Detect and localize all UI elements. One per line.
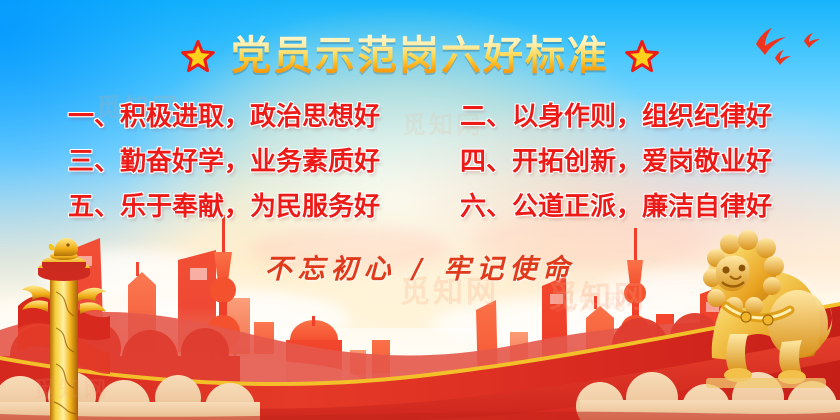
standards-row-1: 一、积极进取，政治思想好 二、以身作则，组织纪律好 <box>0 92 840 137</box>
standard-item-2: 二、以身作则，组织纪律好 <box>437 96 795 133</box>
watermark-6: 觅知网 <box>554 285 629 317</box>
page-title-text: 党员示范岗六好标准 <box>231 33 609 79</box>
standard-item-5: 五、乐于奉献，为民服务好 <box>45 186 403 223</box>
poster-canvas: 觅知网 觅知网 觅知网 觅知网 觅知网 觅知网 觅知网 党员示范岗六好标准 党员… <box>0 0 840 420</box>
standard-item-6: 六、公道正派，廉洁自律好 <box>437 186 795 223</box>
star-icon <box>625 40 659 73</box>
star-icon <box>181 40 215 73</box>
poster-title-row: 党员示范岗六好标准 党员示范岗六好标准 <box>0 27 840 85</box>
standards-row-2: 三、勤奋好学，业务素质好 四、开拓创新，爱岗敬业好 <box>0 137 840 182</box>
standards-list: 一、积极进取，政治思想好 二、以身作则，组织纪律好 三、勤奋好学，业务素质好 四… <box>0 92 840 227</box>
standard-item-1: 一、积极进取，政治思想好 <box>45 96 403 133</box>
page-title: 党员示范岗六好标准 党员示范岗六好标准 <box>231 36 609 76</box>
watermark-7: 觅知网 <box>34 372 109 404</box>
poster-slogan: 不忘初心 / 牢记使命 <box>0 247 840 286</box>
standard-item-3: 三、勤奋好学，业务素质好 <box>45 141 403 178</box>
standard-item-4: 四、开拓创新，爱岗敬业好 <box>437 141 795 178</box>
standards-row-3: 五、乐于奉献，为民服务好 六、公道正派，廉洁自律好 <box>0 182 840 227</box>
